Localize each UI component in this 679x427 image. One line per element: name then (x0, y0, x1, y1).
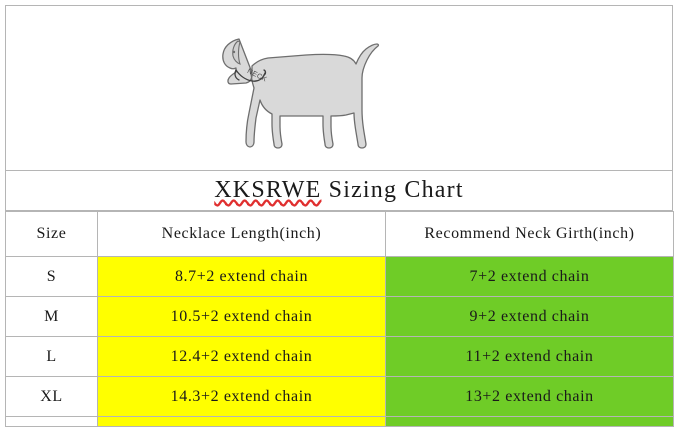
table-row: M 10.5+2 extend chain 9+2 extend chain (6, 297, 674, 337)
cell-size: XL (6, 377, 98, 417)
cell-neck-girth-clipped (386, 417, 674, 427)
cell-necklace-length: 10.5+2 extend chain (98, 297, 386, 337)
cell-neck-girth: 7+2 extend chain (386, 257, 674, 297)
dog-illustration-panel: NECK (6, 6, 672, 170)
header-cell-size: Size (6, 212, 98, 257)
cell-necklace-length: 12.4+2 extend chain (98, 337, 386, 377)
title-suffix: Sizing Chart (321, 177, 463, 203)
cell-neck-girth: 9+2 extend chain (386, 297, 674, 337)
brand-name: XKSRWE (214, 177, 321, 203)
cell-necklace-length: 8.7+2 extend chain (98, 257, 386, 297)
sizing-table: Size Necklace Length(inch) Recommend Nec… (5, 211, 674, 427)
chart-title-row: XKSRWE Sizing Chart (5, 170, 673, 211)
header-cell-necklace-length: Necklace Length(inch) (98, 212, 386, 257)
cell-size: L (6, 337, 98, 377)
cell-necklace-length-clipped (98, 417, 386, 427)
dog-body-shape (223, 39, 379, 148)
table-row: S 8.7+2 extend chain 7+2 extend chain (6, 257, 674, 297)
cell-neck-girth: 11+2 extend chain (386, 337, 674, 377)
sizing-chart-page: NECK XKSRWE Sizing Chart Size Necklace L… (0, 0, 679, 423)
table-row: XL 14.3+2 extend chain 13+2 extend chain (6, 377, 674, 417)
header-cell-neck-girth: Recommend Neck Girth(inch) (386, 212, 674, 257)
table-header-row: Size Necklace Length(inch) Recommend Nec… (6, 212, 674, 257)
table-row: L 12.4+2 extend chain 11+2 extend chain (6, 337, 674, 377)
cell-size: M (6, 297, 98, 337)
dog-side-view-silhouette-icon (194, 14, 409, 164)
table-row-clipped (6, 417, 674, 427)
cell-size-clipped (6, 417, 98, 427)
cell-size: S (6, 257, 98, 297)
page-title: XKSRWE Sizing Chart (214, 177, 463, 204)
dog-eye-dot (233, 51, 235, 53)
cell-neck-girth: 13+2 extend chain (386, 377, 674, 417)
cell-necklace-length: 14.3+2 extend chain (98, 377, 386, 417)
